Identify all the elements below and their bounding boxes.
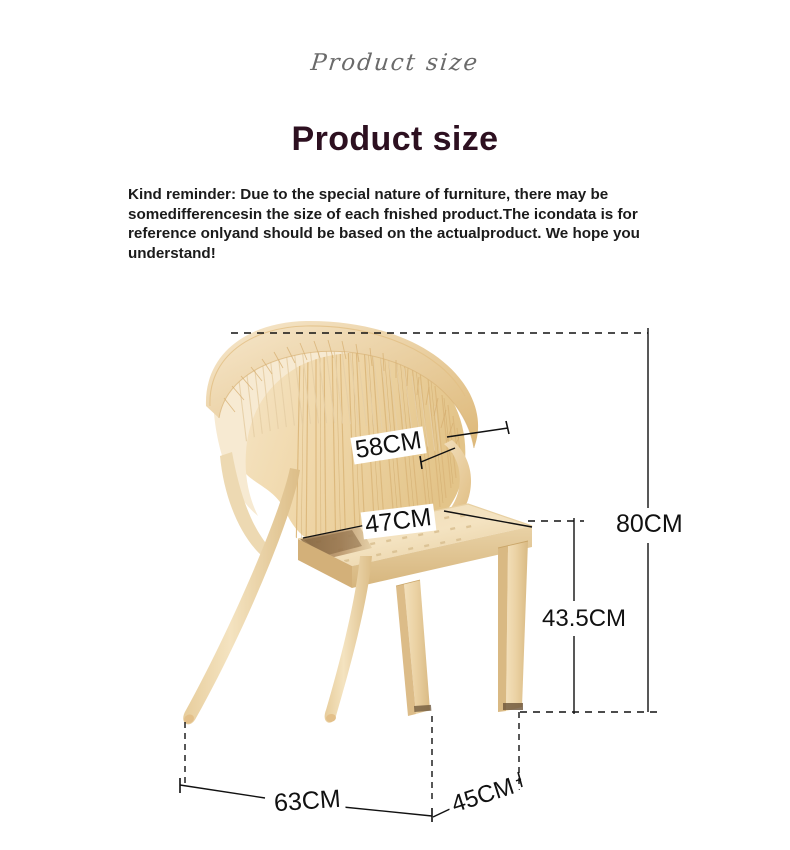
dim-line-63-right (333, 806, 432, 816)
dim-line-63-left (180, 785, 265, 798)
dimension-label-43-5: 43.5CM (538, 605, 630, 633)
chair-illustration (0, 0, 790, 850)
dimension-label-63: 63CM (269, 785, 345, 817)
dimension-diagram: 58CM 47CM 80CM 43.5CM 63CM 45CM (0, 0, 790, 850)
product-size-page: Product size Product size Kind reminder:… (0, 0, 790, 850)
dim-tick-58-right (506, 421, 509, 434)
dimension-label-80: 80CM (612, 510, 687, 539)
